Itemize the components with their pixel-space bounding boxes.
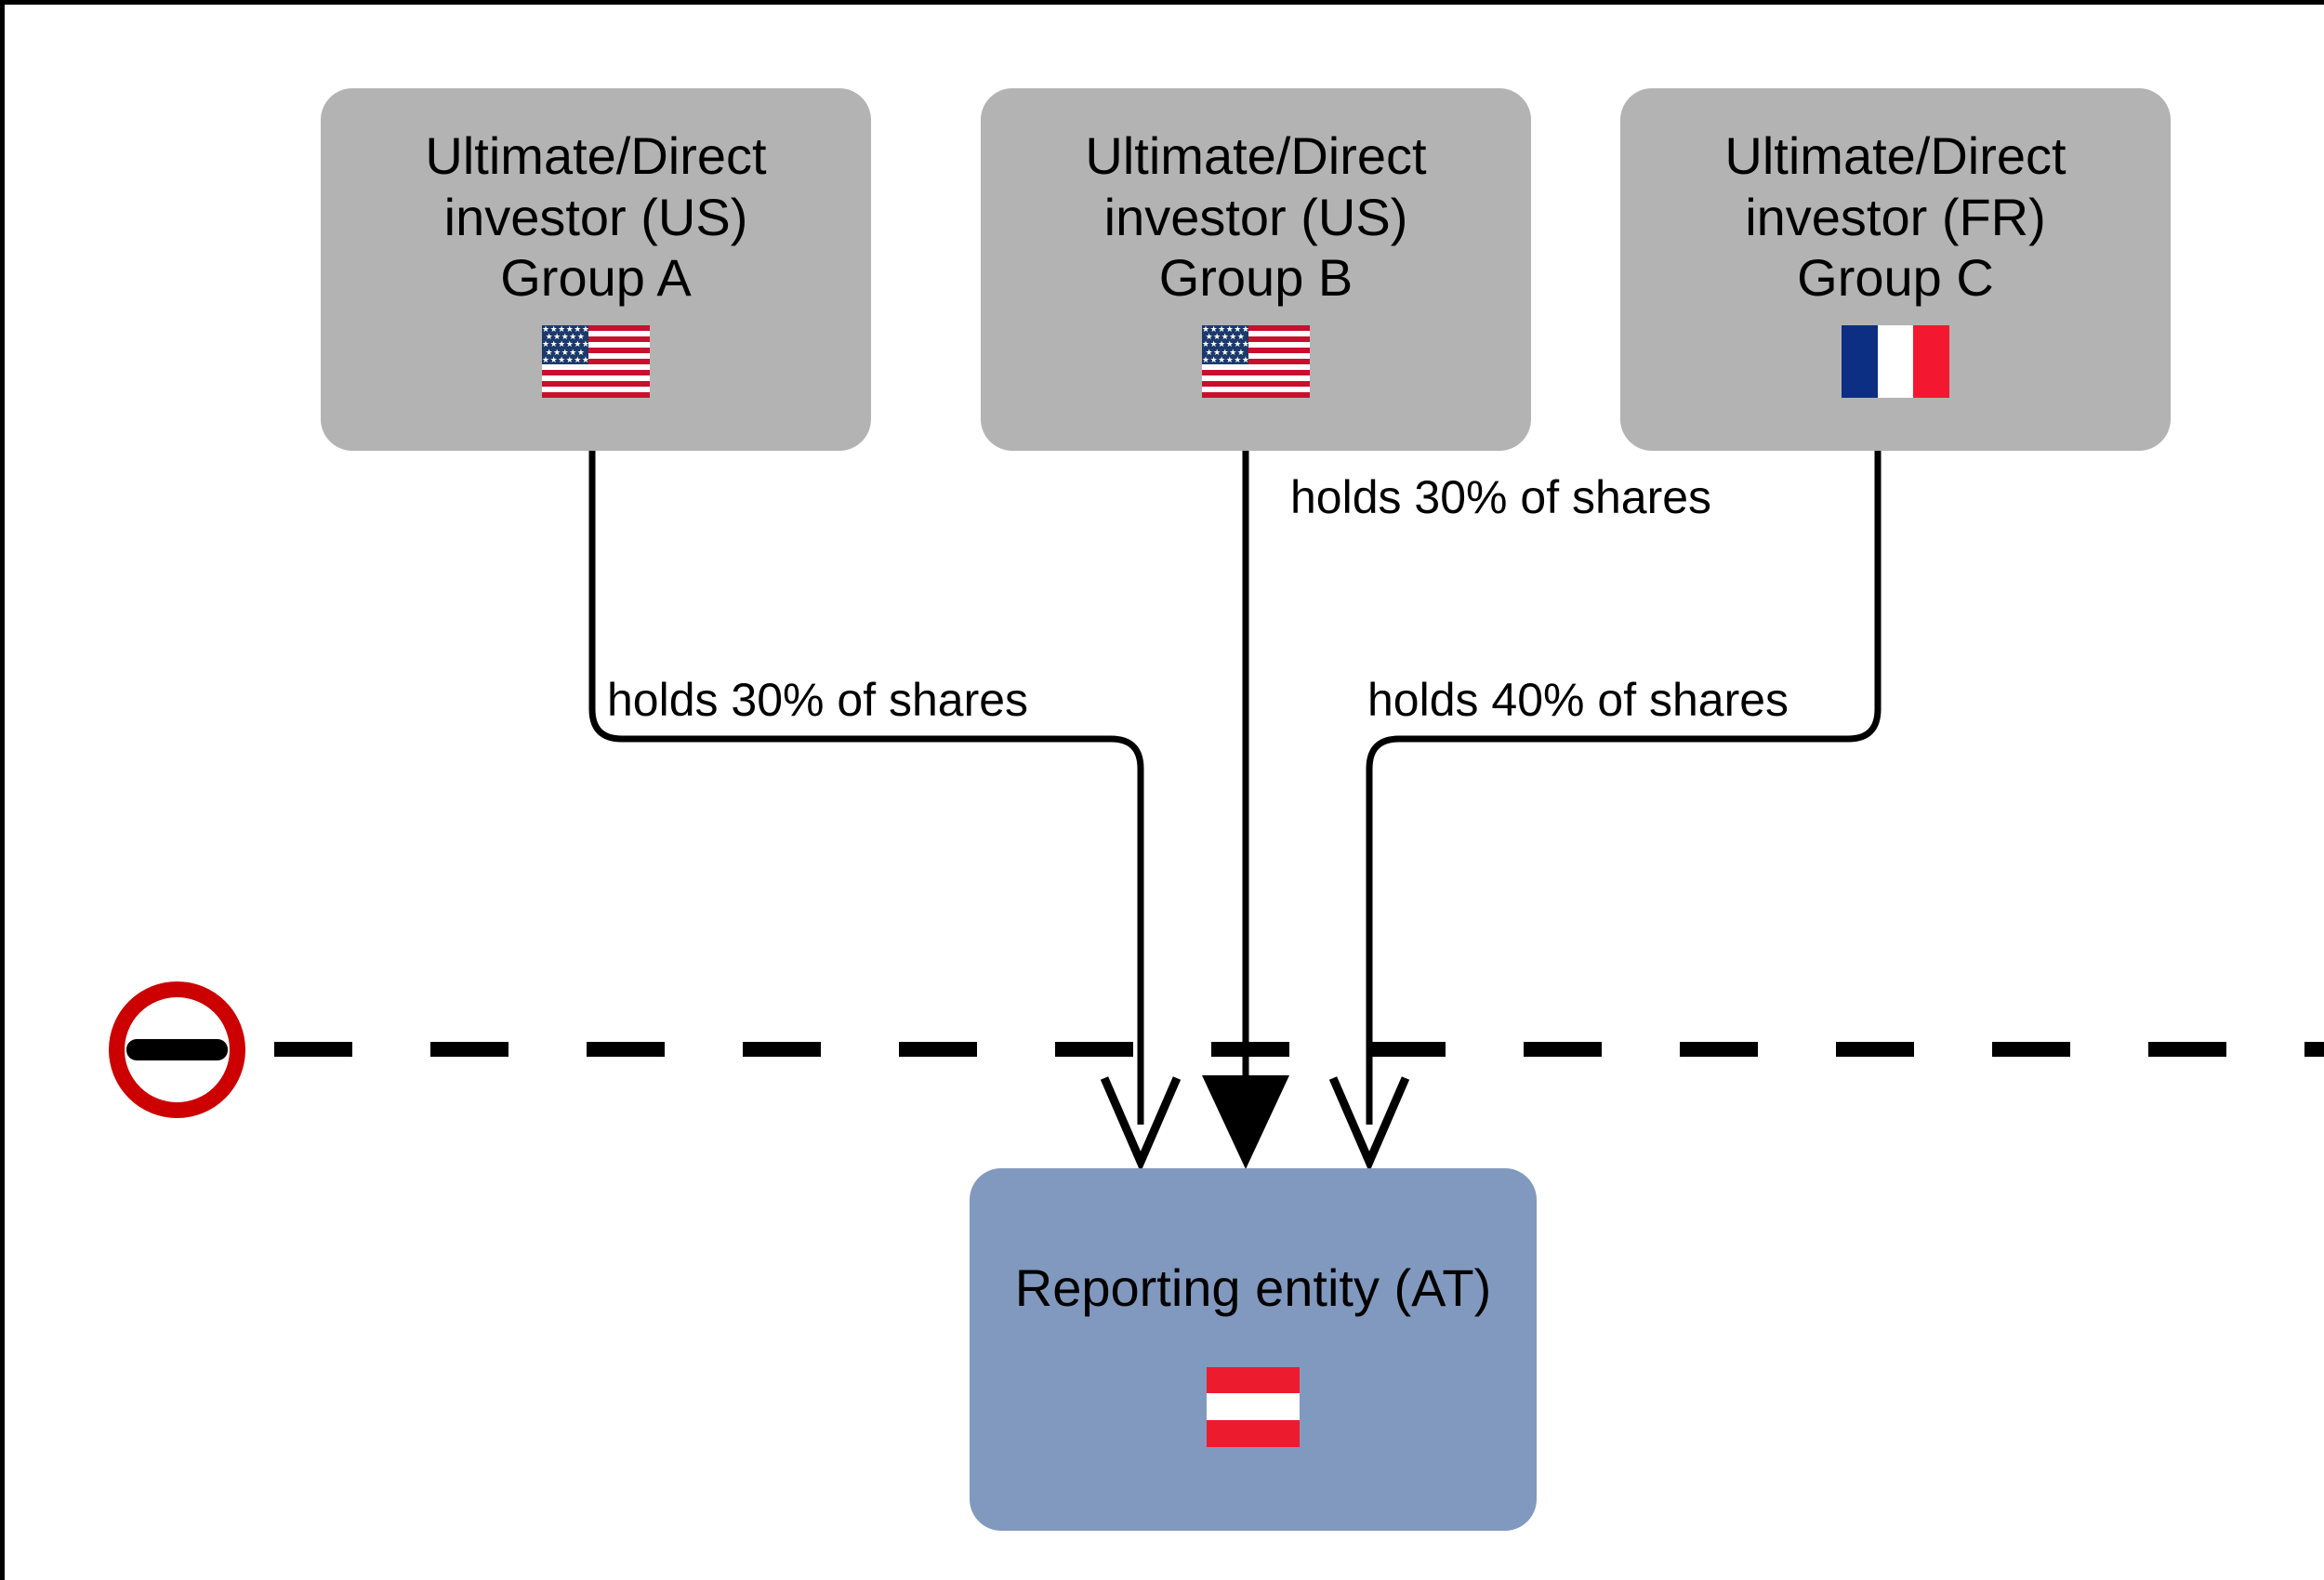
arrowhead-edge-c xyxy=(1333,1078,1406,1162)
us-flag-icon: ★★★★★★ ★★★★★ ★★★★★★ ★★★★★ ★★★★★★ xyxy=(542,325,650,398)
node-investor-a-title: Ultimate/Directinvestor (US)Group A xyxy=(425,125,766,309)
node-investor-b-title: Ultimate/Directinvestor (US)Group B xyxy=(1085,125,1426,309)
edge-label-b: holds 30% of shares xyxy=(1290,474,1711,520)
us-flag-stars: ★★★★★★ ★★★★★ ★★★★★★ ★★★★★ ★★★★★★ xyxy=(1202,325,1248,364)
no-entry-icon xyxy=(105,978,249,1122)
fr-flag-icon xyxy=(1842,325,1949,398)
edge-label-a: holds 30% of shares xyxy=(607,677,1028,723)
node-investor-c[interactable]: Ultimate/Directinvestor (FR)Group C xyxy=(1620,88,2171,451)
node-reporting-entity[interactable]: Reporting entity (AT) xyxy=(970,1168,1537,1531)
connector-edge-c xyxy=(1369,449,1878,1125)
connector-edge-a xyxy=(592,449,1141,1125)
node-investor-b[interactable]: Ultimate/Directinvestor (US)Group B ★★★★… xyxy=(981,88,1531,451)
us-flag-stars: ★★★★★★ ★★★★★ ★★★★★★ ★★★★★ ★★★★★★ xyxy=(542,325,588,364)
arrowhead-edge-a xyxy=(1104,1078,1177,1162)
at-flag-icon xyxy=(1207,1367,1300,1447)
node-reporting-entity-title: Reporting entity (AT) xyxy=(1015,1257,1491,1319)
arrowhead-edge-b xyxy=(1202,1075,1289,1169)
edge-label-c: holds 40% of shares xyxy=(1367,677,1789,723)
diagram-canvas: Ultimate/Directinvestor (US)Group A ★★★★… xyxy=(0,0,2324,1580)
us-flag-icon: ★★★★★★ ★★★★★ ★★★★★★ ★★★★★ ★★★★★★ xyxy=(1202,325,1310,398)
node-investor-c-title: Ultimate/Directinvestor (FR)Group C xyxy=(1724,125,2066,309)
node-investor-a[interactable]: Ultimate/Directinvestor (US)Group A ★★★★… xyxy=(321,88,871,451)
